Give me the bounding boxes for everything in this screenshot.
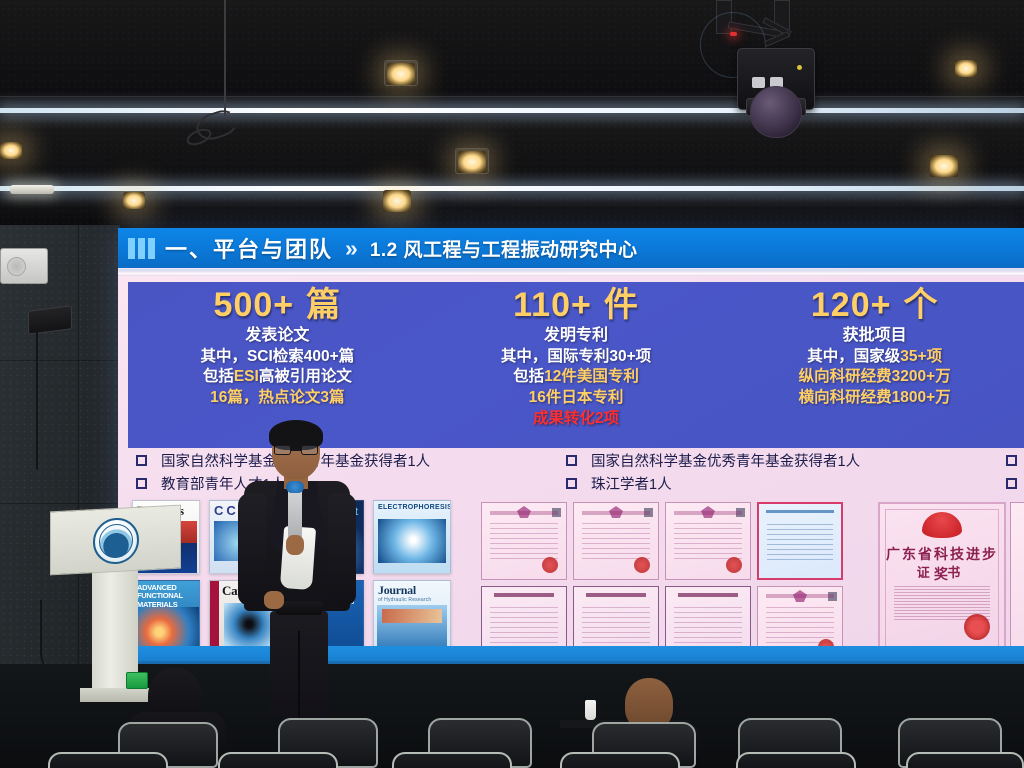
ceiling-spotlight	[123, 192, 145, 209]
list-item-label: 国家自然科学基金优秀青年基金获得者1人	[591, 450, 860, 471]
audience-chair	[560, 752, 680, 768]
podium-base	[80, 688, 150, 702]
audience-chair	[906, 752, 1024, 768]
audience-chair	[392, 752, 512, 768]
stat-detail-line-highlight: 成果转化2项	[427, 409, 726, 430]
list-item-label: 珠江学者1人	[591, 473, 672, 494]
ceiling-spotlight	[458, 151, 486, 173]
ceiling-spotlight	[930, 155, 958, 177]
stat-number: 110+件	[427, 286, 726, 325]
ceiling-light-bar	[10, 185, 54, 194]
stat-column-projects: 120+个 获批项目 其中，国家级35+项 纵向科研经费3200+万 横向科研经…	[725, 282, 1024, 448]
ceiling-spotlight	[0, 142, 22, 159]
ceiling-panel-band	[0, 118, 1024, 188]
audience-chair	[218, 752, 338, 768]
stat-detail-line: 其中，SCI检索400+篇	[128, 347, 427, 368]
ceiling-panel-band	[0, 196, 1024, 228]
provincial-award-certificate: 广东省科技进步奖 证 书	[878, 502, 1006, 658]
list-item-overflow	[1006, 473, 1024, 494]
stat-value: 110+	[513, 286, 592, 324]
stat-column-patents: 110+件 发明专利 其中，国际专利30+项 包括12件美国专利 16件日本专利…	[427, 282, 726, 448]
checkbox-icon	[136, 455, 147, 466]
stat-detail-line: 包括12件美国专利	[427, 367, 726, 388]
chevron-right-icon: »	[345, 235, 358, 262]
ceiling-panel-band	[0, 0, 1024, 96]
award-certificate-highlighted	[757, 502, 843, 580]
stat-value: 500+	[214, 286, 295, 324]
checkbox-icon	[1006, 455, 1017, 466]
certificate-partial	[1010, 502, 1024, 658]
stat-value: 120+	[811, 286, 892, 324]
stat-unit: 件	[604, 286, 639, 324]
ceiling	[0, 0, 1024, 228]
official-seal-icon	[964, 614, 990, 640]
exit-sign	[126, 672, 148, 689]
checkbox-icon	[566, 478, 577, 489]
checkbox-icon	[1006, 478, 1017, 489]
stat-detail-line: 其中，国际专利30+项	[427, 347, 726, 368]
stat-detail-line: 16篇，热点论文3篇	[128, 388, 427, 409]
stat-detail-line: 横向科研经费1800+万	[725, 388, 1024, 409]
paper-cup	[585, 700, 596, 720]
led-light-strip	[0, 186, 1024, 191]
wall-cable	[36, 330, 38, 470]
patent-certificate	[481, 502, 567, 580]
checkbox-icon	[566, 455, 577, 466]
presenter	[238, 423, 356, 718]
list-item-overflow	[1006, 450, 1024, 471]
patent-certificate	[573, 502, 659, 580]
list-item: 珠江学者1人	[566, 473, 1006, 494]
slide-section-title: 一、平台与团队	[165, 232, 333, 264]
bar-chart-icon	[128, 238, 155, 259]
stat-heading: 发表论文	[128, 325, 427, 347]
ceiling-spotlight	[383, 190, 411, 212]
list-item: 国家自然科学基金优秀青年基金获得者1人	[566, 450, 1006, 471]
stat-heading: 发明专利	[427, 325, 726, 347]
lecture-hall-photo: 一、平台与团队 » 1.2 风工程与工程振动研究中心 500+篇 发表论文 其中…	[0, 0, 1024, 768]
stat-unit: 篇	[306, 286, 341, 324]
eyeglasses-icon	[274, 445, 318, 455]
journal-cover: ELECTROPHORESIS	[373, 500, 451, 574]
award-subtitle: 证 书	[880, 562, 1004, 581]
stat-detail-line: 其中，国家级35+项	[725, 347, 1024, 368]
led-light-strip	[0, 108, 1024, 113]
audience-chair	[736, 752, 856, 768]
ceiling-spotlight	[955, 60, 977, 77]
air-conditioner-unit	[0, 248, 48, 284]
slide-title-bar: 一、平台与团队 » 1.2 风工程与工程振动研究中心	[118, 228, 1024, 268]
hanging-mic-wire	[224, 0, 226, 116]
certificate-grid	[481, 502, 843, 662]
title-divider	[118, 269, 1024, 276]
stat-number: 120+个	[725, 286, 1024, 325]
slide-subsection-title: 1.2 风工程与工程振动研究中心	[370, 235, 638, 262]
camera-tally-light	[730, 32, 737, 36]
stat-heading: 获批项目	[725, 325, 1024, 347]
stat-detail-line: 16件日本专利	[427, 388, 726, 409]
patent-certificate	[665, 502, 751, 580]
checkbox-icon	[136, 478, 147, 489]
stat-detail-line: 包括ESI高被引用论文	[128, 367, 427, 388]
ptz-camera-lens	[750, 86, 802, 138]
ceiling-camera-rig	[690, 0, 810, 150]
stat-number: 500+篇	[128, 286, 427, 325]
audience-chair	[48, 752, 168, 768]
stat-detail-line: 纵向科研经费3200+万	[725, 367, 1024, 388]
ceiling-spotlight	[387, 63, 415, 85]
stat-unit: 个	[903, 286, 938, 324]
